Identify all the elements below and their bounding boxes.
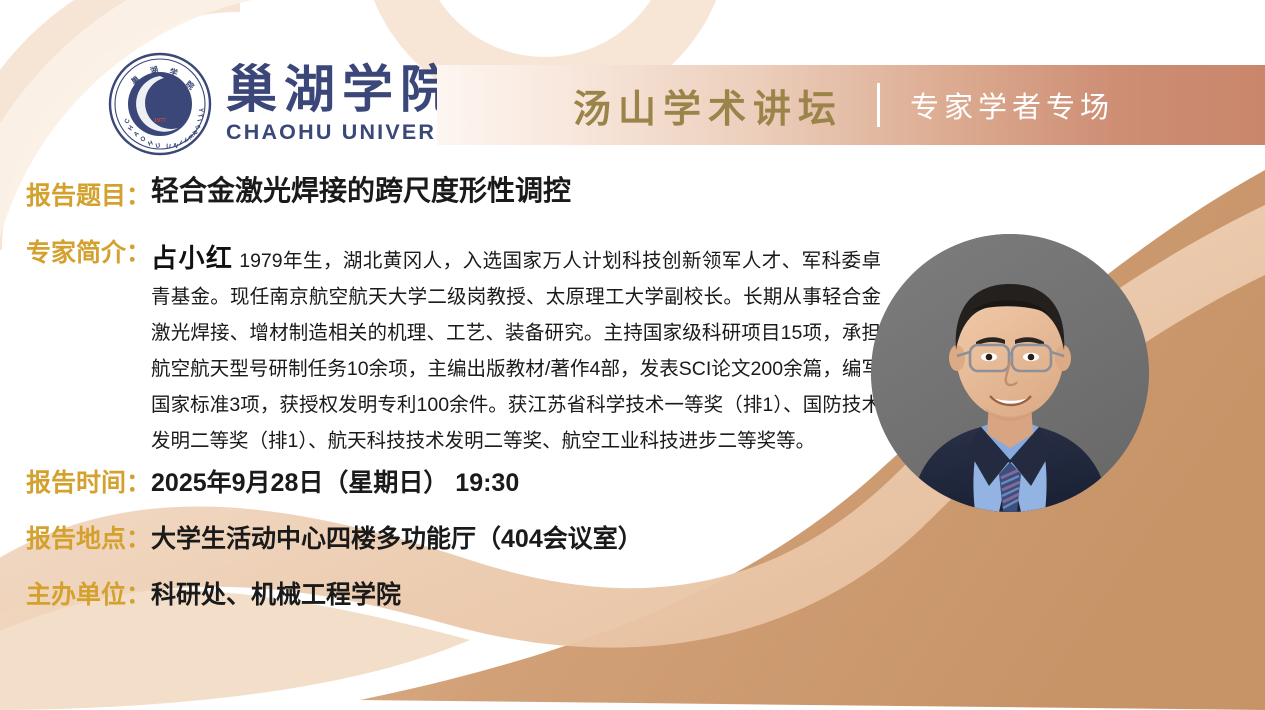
- poster-header: 1977 巢 湖 学 院 C H A O H U U N I V: [0, 0, 1265, 160]
- svg-text:Y: Y: [197, 108, 204, 113]
- report-title-value: 轻合金激光焊接的跨尺度形性调控: [151, 176, 571, 205]
- row-report-time: 报告时间： 2025年9月28日（星期日） 19:30: [26, 463, 519, 499]
- svg-text:T: T: [196, 113, 203, 118]
- row-speaker-bio: 专家简介： 占小红 1979年生，湖北黄冈人，入选国家万人计划科技创新领军人才、…: [26, 240, 881, 459]
- row-report-title: 报告题目： 轻合金激光焊接的跨尺度形性调控: [26, 176, 571, 212]
- row-host-organization: 主办单位： 科研处、机械工程学院: [26, 575, 401, 611]
- speaker-bio-body: 占小红 1979年生，湖北黄冈人，入选国家万人计划科技创新领军人才、军科委卓青基…: [151, 240, 881, 459]
- chaohu-university-seal-icon: 1977 巢 湖 学 院 C H A O H U U N I V: [108, 52, 212, 156]
- speaker-bio-label: 专家简介：: [26, 240, 151, 268]
- svg-text:C: C: [123, 117, 131, 124]
- speaker-name: 占小红: [151, 243, 233, 273]
- svg-text:1977: 1977: [154, 118, 166, 124]
- svg-text:U: U: [166, 143, 172, 150]
- speaker-portrait: [871, 234, 1149, 512]
- report-time-value: 2025年9月28日（星期日） 19:30: [151, 463, 519, 499]
- host-organization-value: 科研处、机械工程学院: [151, 575, 401, 611]
- report-time-label: 报告时间：: [26, 463, 151, 499]
- report-location-label: 报告地点：: [26, 519, 151, 555]
- report-location-value: 大学生活动中心四楼多功能厅（404会议室）: [151, 519, 643, 555]
- forum-banner-title: 汤山学术讲坛: [573, 78, 843, 133]
- svg-text:H: H: [147, 139, 154, 147]
- university-logo: 1977 巢 湖 学 院 C H A O H U U N I V: [108, 52, 493, 156]
- lecture-poster: 1977 巢 湖 学 院 C H A O H U U N I V: [0, 0, 1265, 710]
- row-report-location: 报告地点： 大学生活动中心四楼多功能厅（404会议室）: [26, 519, 643, 555]
- svg-text:U: U: [155, 142, 161, 150]
- forum-banner: 汤山学术讲坛 专家学者专场: [437, 65, 1265, 145]
- speaker-portrait-image: [871, 234, 1149, 512]
- svg-text:O: O: [139, 135, 147, 144]
- host-organization-label: 主办单位：: [26, 575, 151, 611]
- svg-text:学: 学: [168, 66, 178, 78]
- speaker-bio-text: 1979年生，湖北黄冈人，入选国家万人计划科技创新领军人才、军科委卓青基金。现任…: [151, 250, 881, 452]
- svg-text:湖: 湖: [149, 64, 159, 76]
- banner-divider: [877, 83, 880, 127]
- forum-banner-subtitle: 专家学者专场: [910, 84, 1114, 126]
- svg-text:N: N: [172, 142, 179, 150]
- report-title-label: 报告题目：: [26, 176, 151, 212]
